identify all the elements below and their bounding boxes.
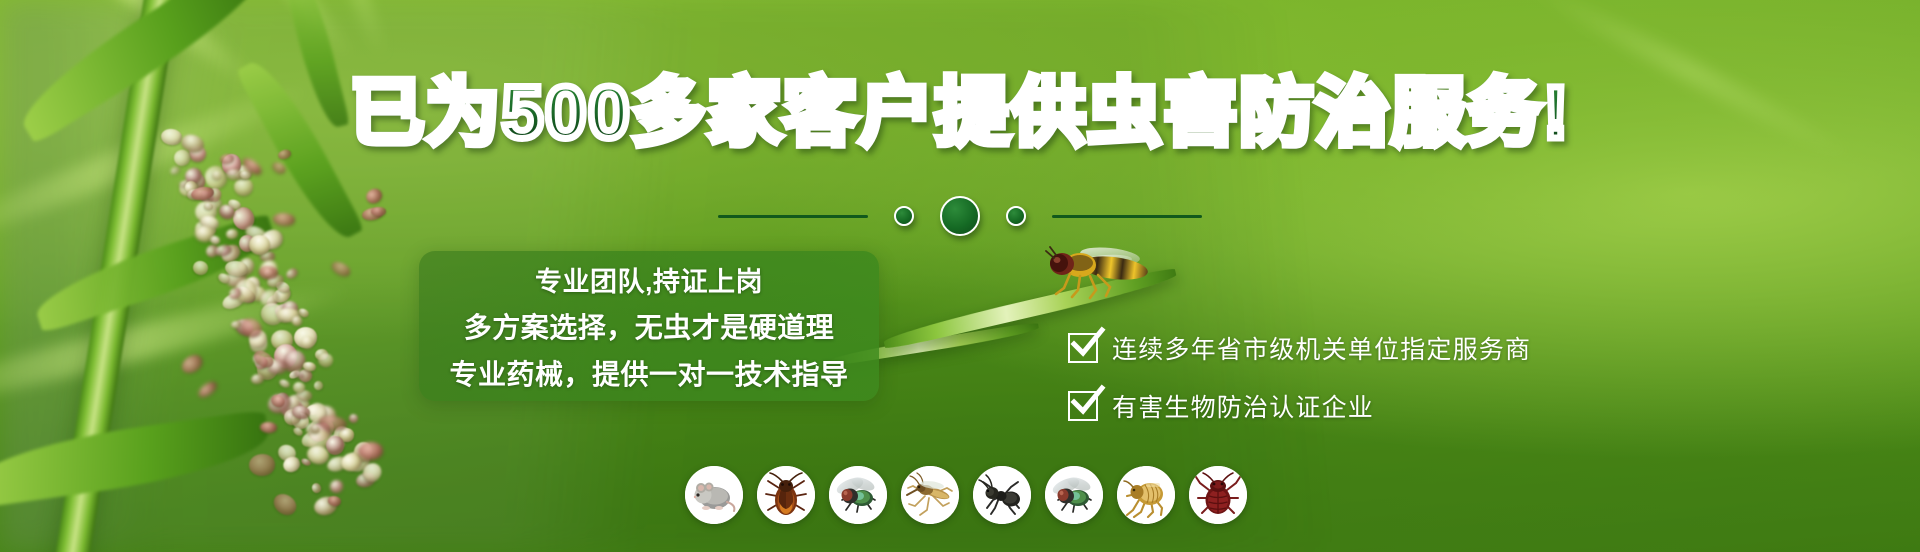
plant-bud-tip	[249, 454, 275, 476]
plant-bud-tip	[329, 259, 352, 279]
fly-icon	[829, 466, 887, 524]
cockroach-icon	[757, 466, 815, 524]
bedbug-icon	[1189, 466, 1247, 524]
selling-points-panel: 专业团队,持证上岗 多方案选择，无虫才是硬道理 专业药械，提供一对一技术指导	[419, 251, 879, 401]
plant-bud-tip	[260, 421, 278, 433]
plant-bud-tip	[277, 148, 291, 160]
plant-bud	[285, 267, 300, 281]
panel-line-3: 专业药械，提供一对一技术指导	[449, 353, 848, 393]
checklist-item-label: 有害生物防治认证企业	[1112, 388, 1374, 424]
panel-line-1: 专业团队,持证上岗	[535, 260, 763, 299]
mosquito-icon	[901, 466, 959, 524]
pest-control-banner: 已为500多家客户提供虫害防治服务! 专业团队,持证上岗 多方案选择，无虫才是硬…	[0, 0, 1920, 552]
decorative-divider	[0, 196, 1920, 236]
checkbox-checked-icon	[1068, 333, 1098, 363]
divider-rule-right	[1052, 215, 1202, 218]
divider-dot-small-right	[1006, 206, 1026, 226]
pest-icon-row	[685, 466, 1247, 524]
plant-bud	[160, 128, 184, 148]
plant-bud-tip	[178, 352, 205, 377]
ant-icon	[973, 466, 1031, 524]
plant-bud	[292, 316, 302, 327]
plant-bud	[278, 378, 291, 389]
plant-bud	[330, 479, 344, 493]
flea-icon	[1117, 466, 1175, 524]
checkbox-checked-icon	[1068, 391, 1098, 421]
panel-line-2: 多方案选择，无虫才是硬道理	[464, 306, 835, 346]
divider-rule-left	[718, 215, 868, 218]
checklist-item-label: 连续多年省市级机关单位指定服务商	[1112, 330, 1531, 366]
plant-bud	[348, 413, 360, 425]
hoverfly-illustration	[1040, 242, 1160, 304]
plant-bud	[310, 481, 323, 495]
mouse-icon	[685, 466, 743, 524]
plant-bud	[168, 165, 180, 176]
list-item: 连续多年省市级机关单位指定服务商	[1068, 330, 1531, 366]
plant-bud-tip	[196, 379, 219, 400]
fly-icon	[1045, 466, 1103, 524]
plant-bud	[192, 259, 211, 277]
credentials-checklist: 连续多年省市级机关单位指定服务商 有害生物防治认证企业	[1068, 330, 1531, 424]
divider-dot-small-left	[894, 206, 914, 226]
plant-bud	[250, 373, 265, 385]
plant-bud-tip	[270, 490, 301, 520]
plant-bud-tip	[270, 160, 287, 176]
plant-bud	[312, 379, 325, 392]
plant-bud-tip	[358, 442, 383, 460]
divider-dot-large	[940, 196, 980, 236]
list-item: 有害生物防治认证企业	[1068, 388, 1531, 424]
